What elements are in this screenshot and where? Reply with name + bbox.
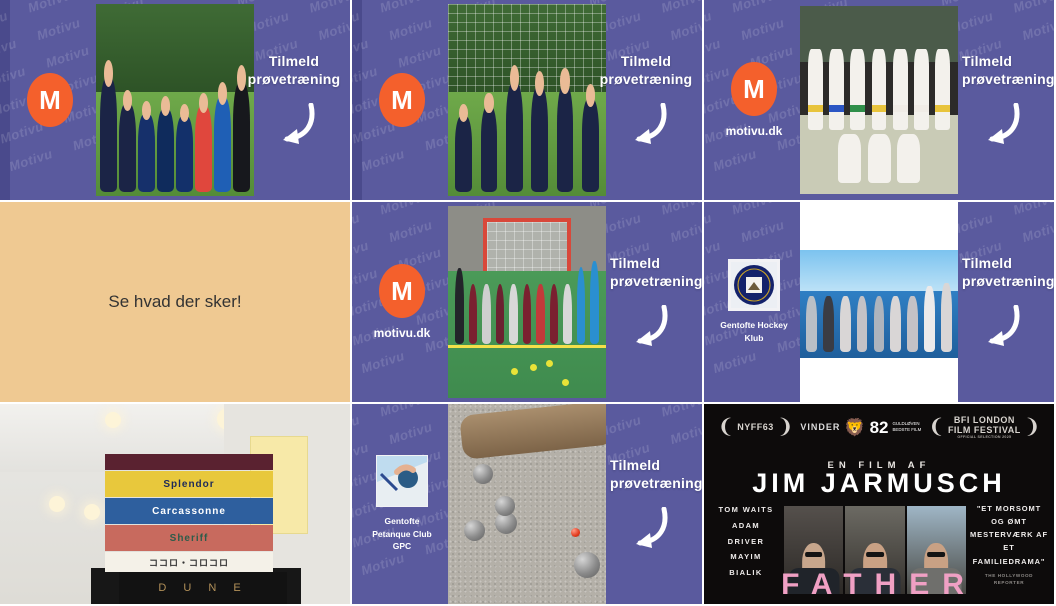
ad-background: MotivuMotivuMotivuMotivuMotivuMotivuMoti… [352, 404, 702, 604]
card-grid: MotivuMotivuMotivuMotivuMotivuMotivuMoti… [0, 0, 1056, 606]
game-box: Carcassonne [105, 498, 273, 524]
game-box: Splendor [105, 471, 273, 497]
headline-text: Se hvad der sker! [108, 292, 241, 312]
card-hockey[interactable]: MotivuMotivuMotivuMotivuMotivuMotivuMoti… [704, 202, 1056, 404]
brand-block: M [0, 0, 100, 200]
gentofte-petanque-club-photo [376, 455, 428, 507]
photo-handball [448, 206, 606, 398]
photo-soccer-girls [448, 4, 606, 196]
laurel-venice: VINDER 🦁 82 GULDLØVEN BEDSTE FILM [800, 419, 921, 436]
laurel-nyff: ❨ NYFF63 ❩ [717, 417, 793, 437]
cta-tilmeld[interactable]: Tilmeld prøvetræning [602, 202, 702, 402]
film-title: FATHER [704, 568, 1054, 602]
card-handball[interactable]: MotivuMotivuMotivuMotivuMotivuMotivuMoti… [352, 202, 704, 404]
watermark-text: Motivu [514, 0, 561, 2]
cast-member: TOM WAITS [712, 502, 780, 518]
club-name: Gentofte Hockey Klub [711, 319, 797, 345]
laurel-row: ❨ NYFF63 ❩ VINDER 🦁 82 GULDLØVEN BEDSTE … [704, 410, 1054, 444]
photo-soccer-boys [96, 4, 254, 196]
motivu-m-logo: M [379, 73, 425, 127]
cta-line1: Tilmeld [269, 53, 319, 69]
ad-background: MotivuMotivuMotivuMotivuMotivuMotivuMoti… [352, 202, 702, 402]
cta-line2: prøvetræning [600, 71, 693, 87]
game-box-dune: D U N E [119, 572, 287, 604]
brand-block: M motivu.dk [352, 202, 452, 402]
cta-line1: Tilmeld [962, 255, 1012, 271]
director-name: JIM JARMUSCH [704, 468, 1054, 499]
cta-line2: prøvetræning [962, 71, 1054, 87]
brand-block: Gentofte Hockey Klub [704, 202, 804, 402]
motivu-m-logo: M [27, 73, 73, 127]
cta-tilmeld[interactable]: Tilmeld prøvetræning [954, 202, 1054, 402]
movie-poster: ❨ NYFF63 ❩ VINDER 🦁 82 GULDLØVEN BEDSTE … [704, 404, 1054, 604]
cta-tilmeld[interactable]: Tilmeld prøvetræning [238, 0, 350, 200]
brand-block: M motivu.dk [704, 0, 804, 200]
cta-line2: prøvetræning [248, 71, 341, 87]
card-board-games[interactable]: Splendor Carcassonne Sheriff ココロ・コロコロ D … [0, 404, 352, 606]
card-karate[interactable]: MotivuMotivuMotivuMotivuMotivuMotivuMoti… [704, 0, 1056, 202]
curved-arrow-down-left-icon [271, 103, 317, 147]
curved-arrow-down-left-icon [623, 103, 669, 147]
game-box: Sheriff [105, 525, 273, 551]
photo-karate [800, 6, 958, 194]
ad-background: MotivuMotivuMotivuMotivuMotivuMotivuMoti… [704, 0, 1054, 200]
ad-background: MotivuMotivuMotivuMotivuMotivuMotivuMoti… [0, 0, 350, 200]
cta-line2: prøvetræning [610, 273, 702, 289]
cta-line1: Tilmeld [962, 53, 1012, 69]
cta-line2: prøvetræning [610, 475, 702, 491]
game-box-stack: Splendor Carcassonne Sheriff ココロ・コロコロ [105, 454, 273, 572]
cta-line1: Tilmeld [610, 255, 660, 271]
card-se-hvad-der-sker[interactable]: Se hvad der sker! [0, 202, 352, 404]
watermark-text: Motivu [866, 0, 913, 2]
watermark-text: Motivu [162, 0, 209, 2]
card-petanque[interactable]: MotivuMotivuMotivuMotivuMotivuMotivuMoti… [352, 404, 704, 606]
cta-line2: prøvetræning [962, 273, 1054, 289]
curved-arrow-down-left-icon [976, 305, 1022, 349]
ad-background: MotivuMotivuMotivuMotivuMotivuMotivuMoti… [704, 202, 1054, 402]
site-name: motivu.dk [374, 326, 431, 340]
curved-arrow-down-left-icon [976, 103, 1022, 147]
club-name: Gentofte Petanque Club GPC [359, 515, 445, 553]
site-name: motivu.dk [726, 124, 783, 138]
curved-arrow-down-left-icon [624, 305, 670, 349]
photo-hockey [800, 250, 958, 358]
motivu-m-logo: M [379, 264, 425, 318]
photo-board-games: Splendor Carcassonne Sheriff ココロ・コロコロ D … [0, 404, 350, 604]
cta-tilmeld[interactable]: Tilmeld prøvetræning [954, 0, 1054, 200]
photo-petanque [448, 404, 606, 604]
motivu-m-logo: M [731, 62, 777, 116]
cta-line1: Tilmeld [621, 53, 671, 69]
cta-tilmeld[interactable]: Tilmeld prøvetræning [602, 404, 702, 604]
card-film-father[interactable]: ❨ NYFF63 ❩ VINDER 🦁 82 GULDLØVEN BEDSTE … [704, 404, 1056, 606]
brand-block: Gentofte Petanque Club GPC [352, 404, 452, 604]
gentofte-hockey-klub-crest [728, 259, 780, 311]
sand-background: Se hvad der sker! [0, 202, 350, 402]
ad-background: MotivuMotivuMotivuMotivuMotivuMotivuMoti… [352, 0, 702, 200]
laurel-bfi: ❨ BFI LONDON FILM FESTIVAL OFFICIAL SELE… [928, 415, 1040, 440]
game-box [105, 454, 273, 470]
game-box: ココロ・コロコロ [105, 552, 273, 572]
cast-member: ADAM DRIVER [712, 518, 780, 550]
curved-arrow-down-left-icon [624, 507, 670, 551]
award-word: VINDER [800, 422, 840, 432]
cta-tilmeld[interactable]: Tilmeld prøvetræning [590, 0, 702, 200]
watermark-text: Motivu [514, 202, 561, 204]
venice-lion-icon: 🦁 [844, 419, 865, 436]
cta-line1: Tilmeld [610, 457, 660, 473]
card-soccer-girls[interactable]: MotivuMotivuMotivuMotivuMotivuMotivuMoti… [352, 0, 704, 202]
brand-block: M [352, 0, 452, 200]
card-soccer-boys[interactable]: MotivuMotivuMotivuMotivuMotivuMotivuMoti… [0, 0, 352, 202]
